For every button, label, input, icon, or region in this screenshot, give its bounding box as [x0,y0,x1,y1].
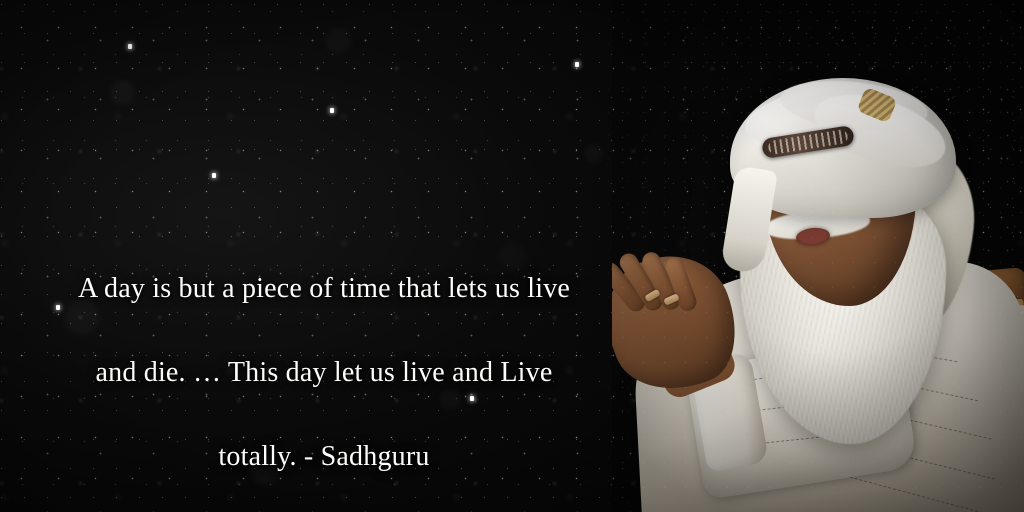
quote-line-1: A day is but a piece of time that lets u… [0,268,648,310]
quote-text: A day is but a piece of time that lets u… [0,226,648,512]
quote-line-2: and die. … This day let us live and Live [0,352,648,394]
quote-line-3: totally. - Sadhguru [0,436,648,478]
quote-image-canvas: A day is but a piece of time that lets u… [0,0,1024,512]
